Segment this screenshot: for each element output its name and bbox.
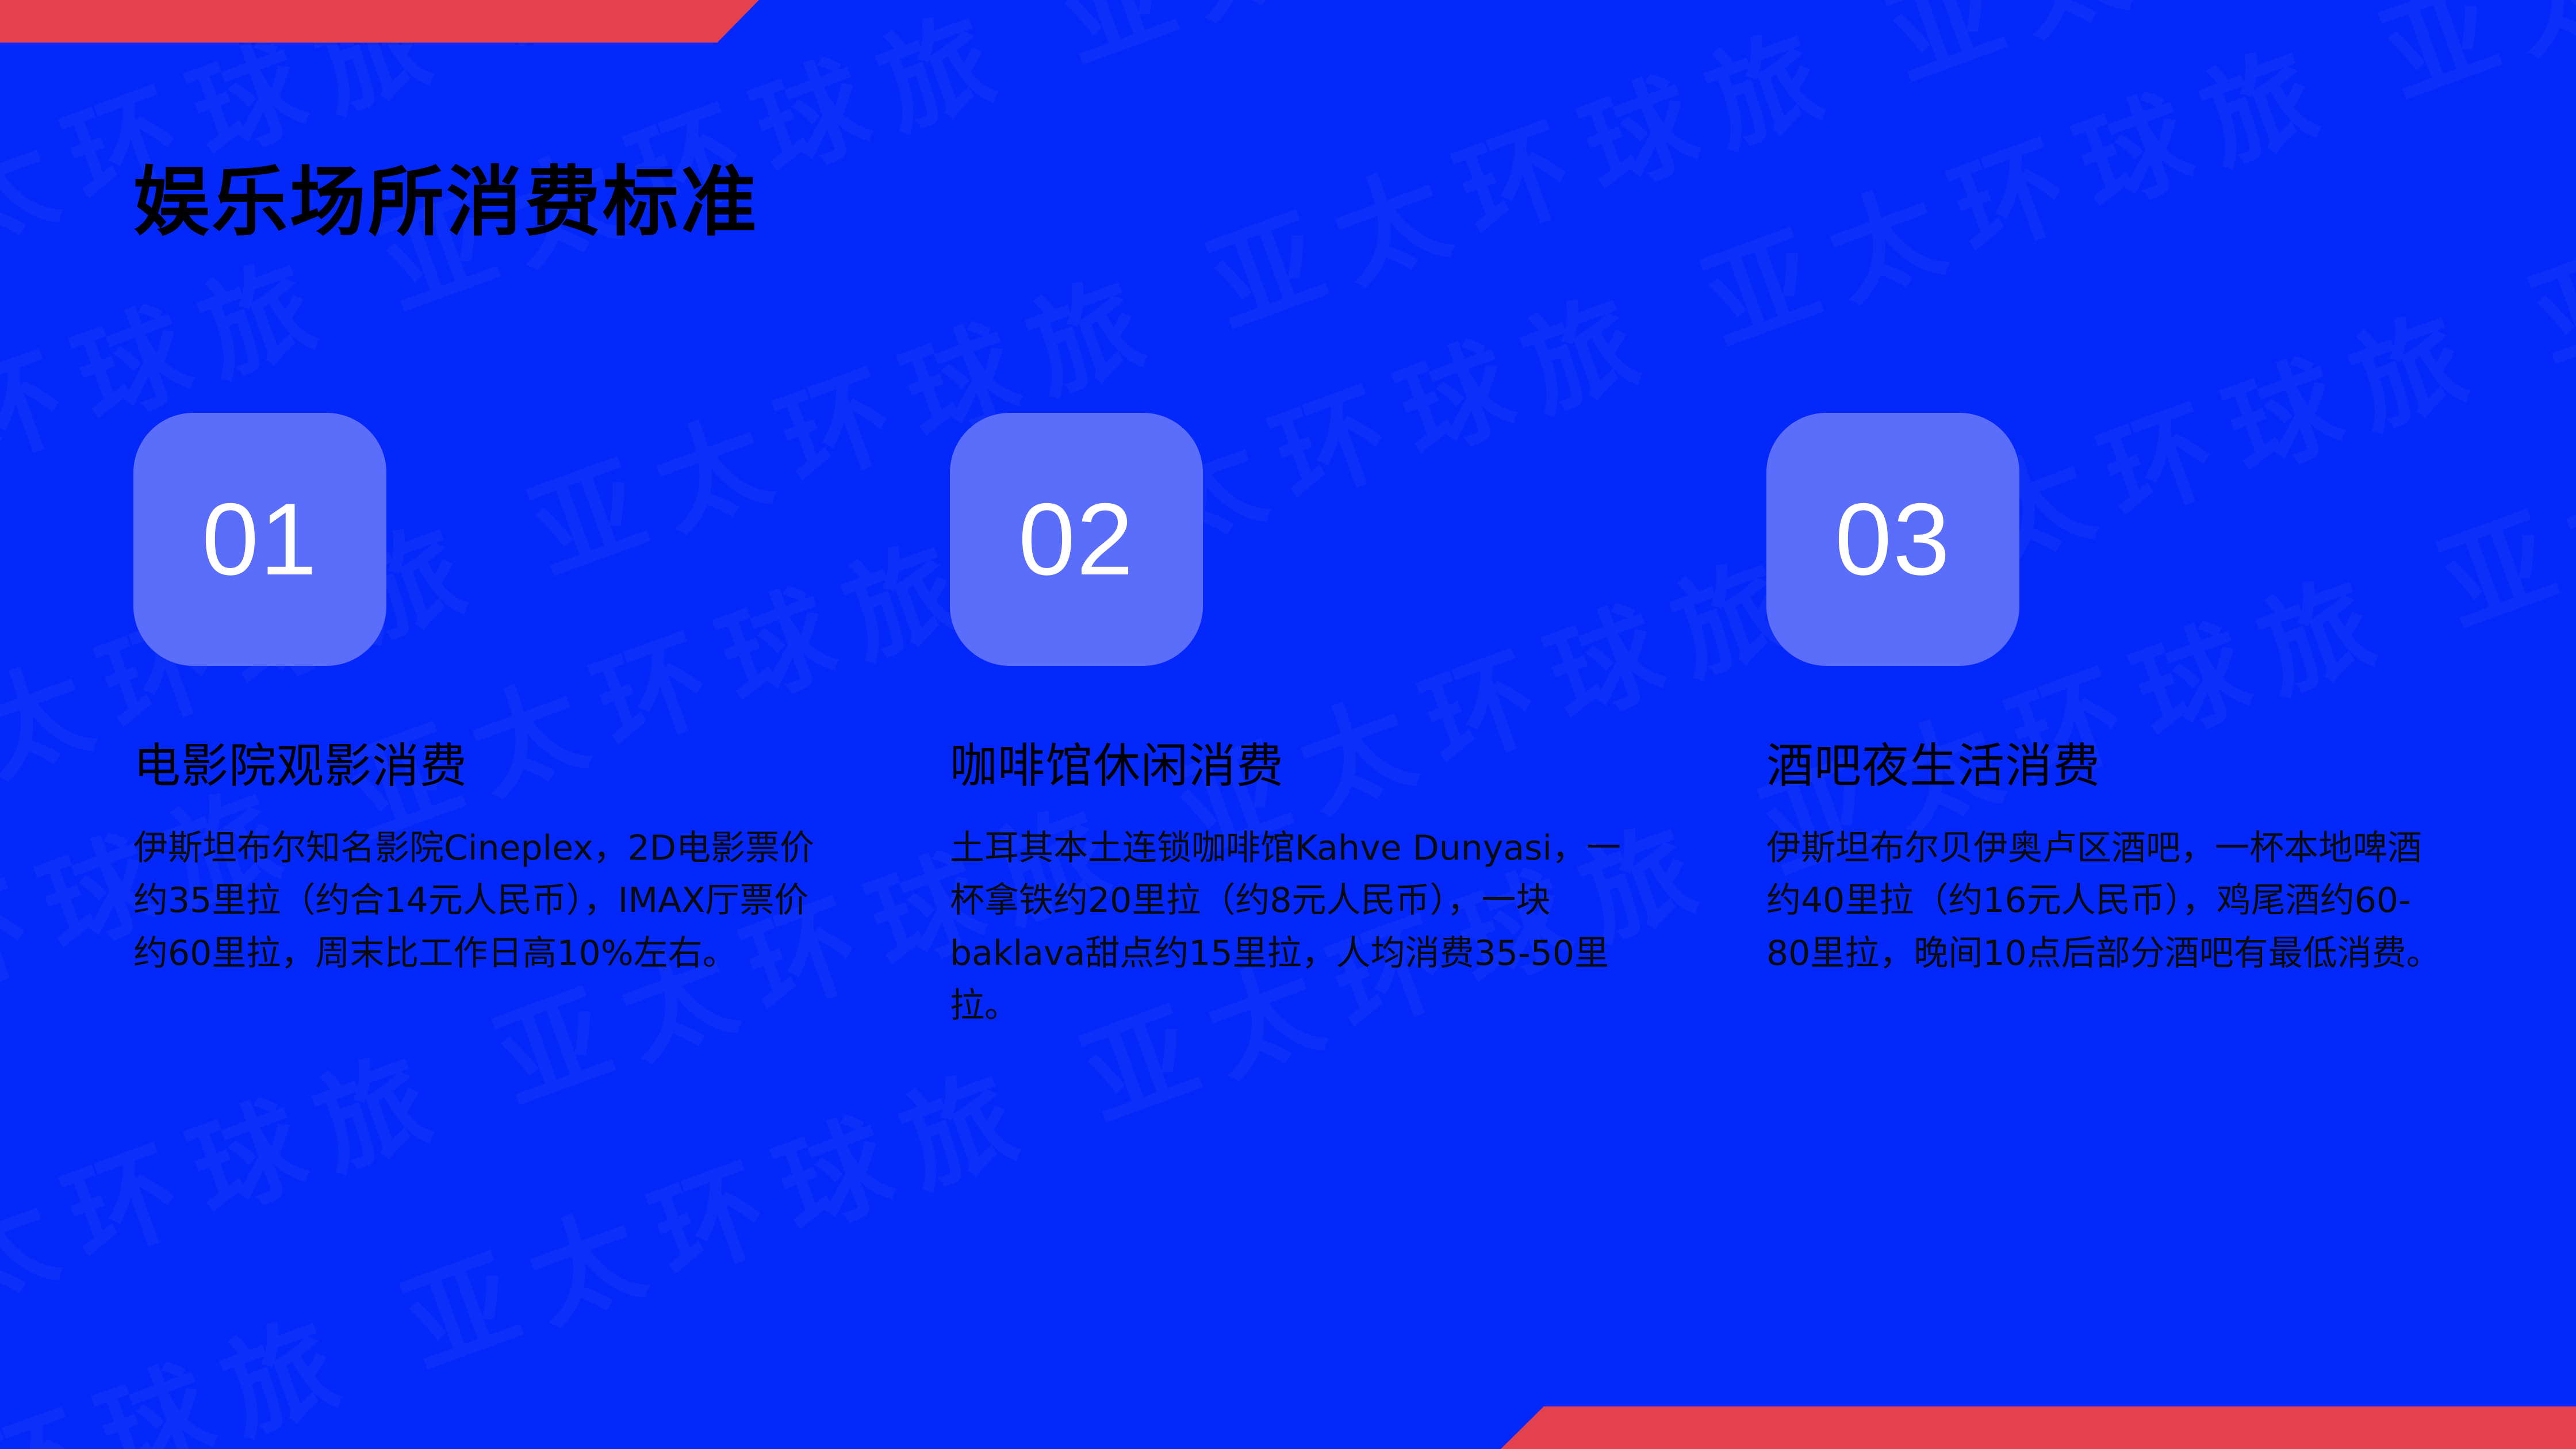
card-body: 伊斯坦布尔知名影院Cineplex，2D电影票价约35里拉（约合14元人民币），… <box>133 822 818 980</box>
card-body: 土耳其本土连锁咖啡馆Kahve Dunyasi，一杯拿铁约20里拉（约8元人民币… <box>950 822 1634 1032</box>
badge-number: 03 <box>1835 488 1951 591</box>
page-title: 娱乐场所消费标准 <box>133 164 759 240</box>
card-item: 02 咖啡馆休闲消费 土耳其本土连锁咖啡馆Kahve Dunyasi，一杯拿铁约… <box>950 413 1634 1032</box>
step-badge-01: 01 <box>133 413 386 666</box>
badge-number: 02 <box>1018 488 1134 591</box>
step-badge-02: 02 <box>950 413 1203 666</box>
card-item: 03 酒吧夜生活消费 伊斯坦布尔贝伊奥卢区酒吧，一杯本地啤酒约40里拉（约16元… <box>1766 413 2451 1032</box>
card-body: 伊斯坦布尔贝伊奥卢区酒吧，一杯本地啤酒约40里拉（约16元人民币），鸡尾酒约60… <box>1766 822 2451 980</box>
card-list: 01 电影院观影消费 伊斯坦布尔知名影院Cineplex，2D电影票价约35里拉… <box>0 413 2576 1032</box>
top-left-accent-shape <box>0 0 759 43</box>
step-badge-03: 03 <box>1766 413 2019 666</box>
card-heading: 咖啡馆休闲消费 <box>950 741 1634 792</box>
card-heading: 酒吧夜生活消费 <box>1766 741 2451 792</box>
card-item: 01 电影院观影消费 伊斯坦布尔知名影院Cineplex，2D电影票价约35里拉… <box>133 413 818 1032</box>
badge-number: 01 <box>202 488 318 591</box>
slide-root: 亚太环球旅 亚太环球旅 亚太环球旅 亚太环球旅 亚太环球旅 亚太环球旅 亚太环球… <box>0 0 2576 1449</box>
card-heading: 电影院观影消费 <box>133 741 818 792</box>
bottom-right-accent-shape <box>1501 1406 2576 1449</box>
